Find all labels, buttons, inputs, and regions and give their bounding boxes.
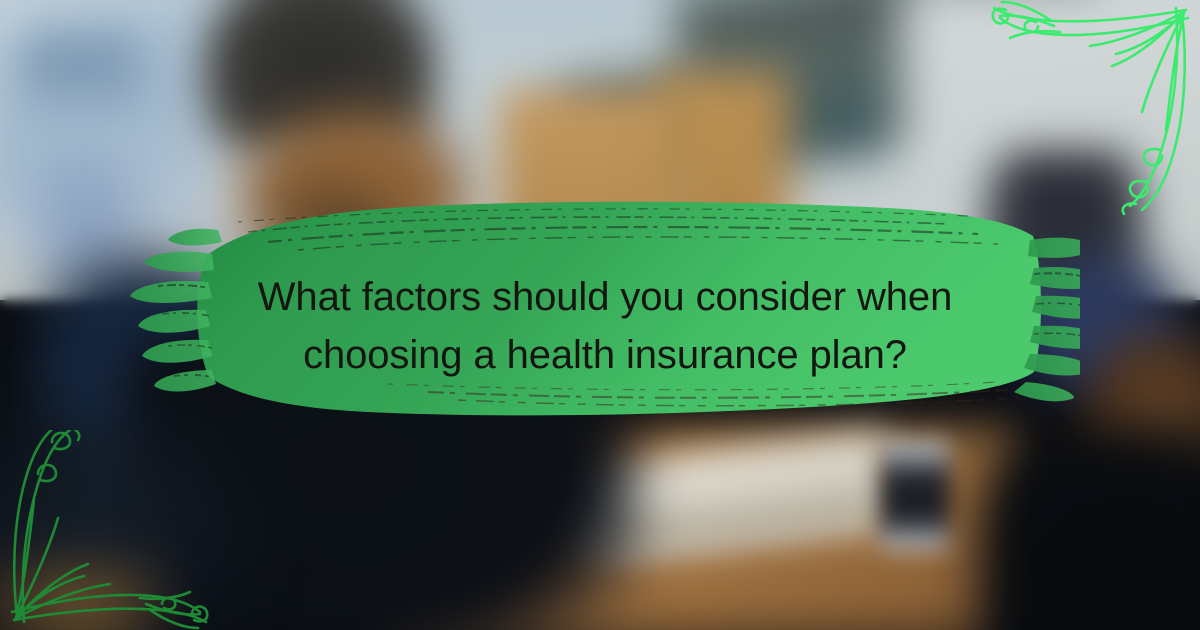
floral-flourish-top-right-icon	[990, 0, 1200, 215]
floral-flourish-bottom-left-icon	[0, 430, 215, 630]
social-card-canvas: What factors should you consider when ch…	[0, 0, 1200, 630]
bg-poster-accent	[20, 30, 140, 100]
page-title: What factors should you consider when ch…	[170, 268, 1040, 384]
bg-foreground-person-3	[980, 420, 1200, 630]
bg-cup	[880, 440, 950, 550]
